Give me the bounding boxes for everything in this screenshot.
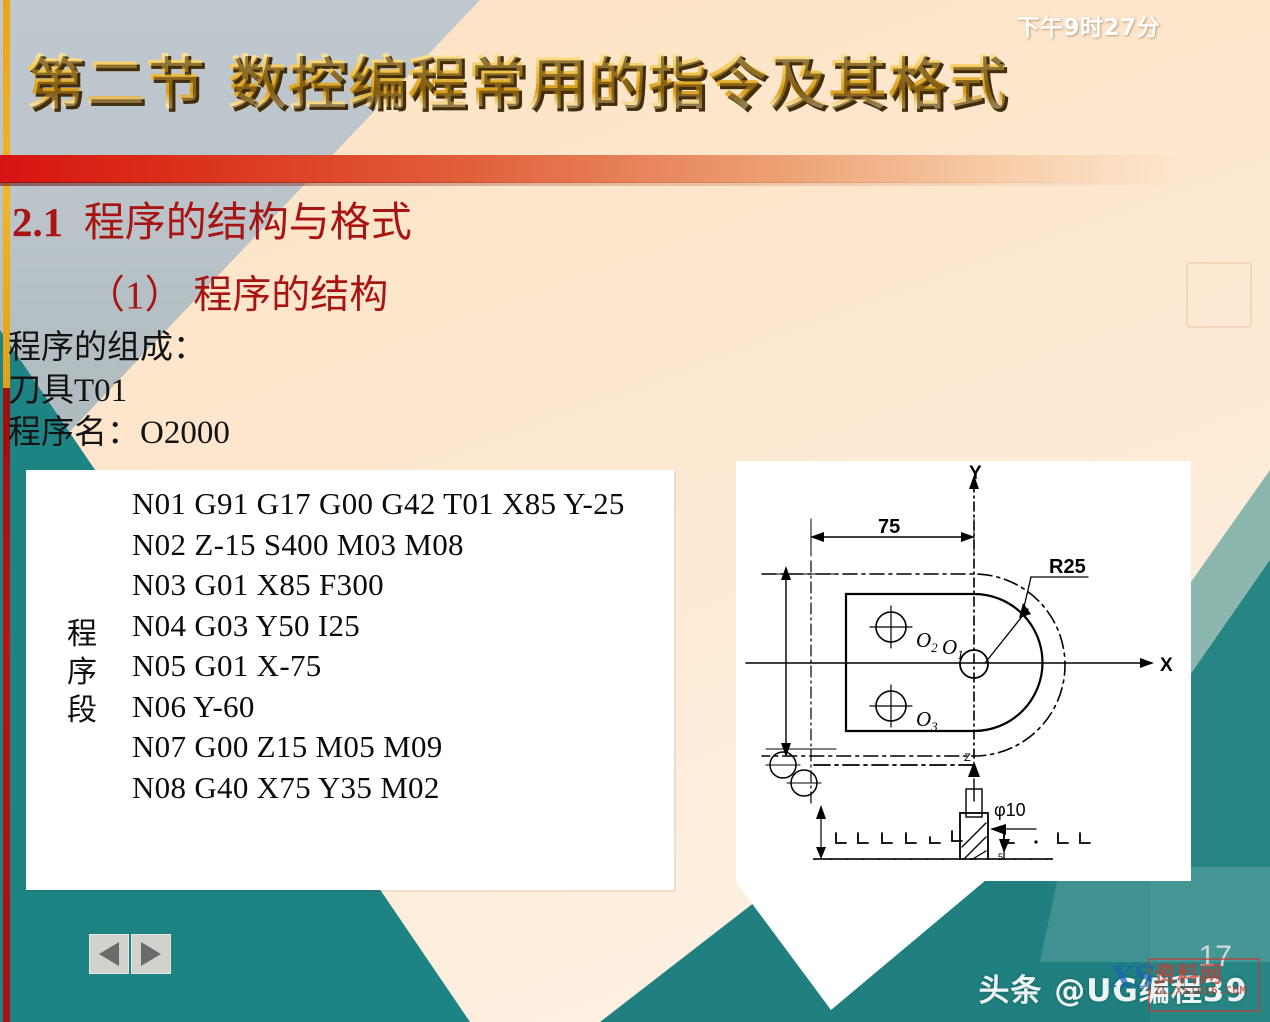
axis-y-label: Y: [969, 463, 982, 484]
site-watermark-initials: XS: [1110, 960, 1155, 995]
faint-corner-mark: [1186, 262, 1252, 328]
page-title: 第二节 数控编程常用的指令及其格式: [26, 50, 1146, 116]
program-code-lines: N01 G91 G17 G00 G42 T01 X85 Y-25 N02 Z-1…: [132, 484, 625, 808]
section-title: 程序的结构与格式: [84, 199, 412, 245]
code-line: N04 G03 Y50 I25: [132, 606, 625, 647]
code-line: N07 G00 Z15 M05 M09: [132, 727, 625, 768]
body-line-1: 程序的组成：: [8, 327, 206, 369]
body-line-2: 刀具T01: [8, 370, 127, 412]
left-red-stripe: [3, 388, 10, 1022]
dim-tool-diameter-label: φ10: [994, 800, 1026, 820]
axis-z-label: Z: [964, 752, 971, 764]
point-o2-label: O2: [916, 628, 938, 655]
dim-width-label: 75: [878, 516, 900, 538]
arrow-left-icon: [99, 942, 119, 966]
technical-drawing-svg: Y X Z 75 R25 φ10 5 O2 O3 O1: [736, 461, 1191, 881]
site-watermark: XS 资料网 ZL.XS1616.COM: [1110, 954, 1262, 1016]
clock-label: 下午9时27分: [1016, 8, 1160, 42]
point-o1-label: O1: [942, 635, 964, 662]
subsection-heading: （1） 程序的结构: [86, 272, 388, 320]
program-code-card: 程 序 段 N01 G91 G17 G00 G42 T01 X85 Y-25 N…: [26, 470, 674, 890]
code-line: N08 G40 X75 Y35 M02: [132, 768, 625, 809]
title-divider-band: [0, 155, 1178, 183]
previous-slide-button[interactable]: [89, 934, 129, 974]
body-line-3: 程序名：O2000: [8, 412, 230, 454]
code-side-char-2: 序: [64, 654, 100, 692]
point-o3-label: O3: [916, 707, 938, 734]
axis-x-label: X: [1160, 655, 1173, 676]
code-line: N06 Y-60: [132, 687, 625, 728]
code-line: N01 G91 G17 G00 G42 T01 X85 Y-25: [132, 484, 625, 525]
background-sheen: [1040, 867, 1270, 962]
next-slide-button[interactable]: [131, 934, 171, 974]
site-watermark-url: ZL.XS1616.COM: [1154, 984, 1247, 997]
code-line: N05 G01 X-75: [132, 646, 625, 687]
technical-drawing-card: Y X Z 75 R25 φ10 5 O2 O3 O1: [736, 461, 1191, 881]
code-side-char-3: 段: [64, 692, 100, 730]
title-divider-shadow: [0, 182, 1178, 186]
code-side-label: 程 序 段: [64, 616, 100, 730]
slide-navigation[interactable]: [89, 934, 171, 974]
code-line: N03 G01 X85 F300: [132, 565, 625, 606]
presentation-slide: 下午9时27分 第二节 数控编程常用的指令及其格式 第二节 数控编程常用的指令及…: [0, 0, 1270, 1022]
code-side-char-1: 程: [64, 616, 100, 654]
code-line: N02 Z-15 S400 M03 M08: [132, 525, 625, 566]
dim-radius-label: R25: [1049, 556, 1086, 578]
section-heading: 2.1 程序的结构与格式: [12, 197, 412, 247]
section-number: 2.1: [12, 199, 63, 245]
arrow-right-icon: [141, 942, 161, 966]
